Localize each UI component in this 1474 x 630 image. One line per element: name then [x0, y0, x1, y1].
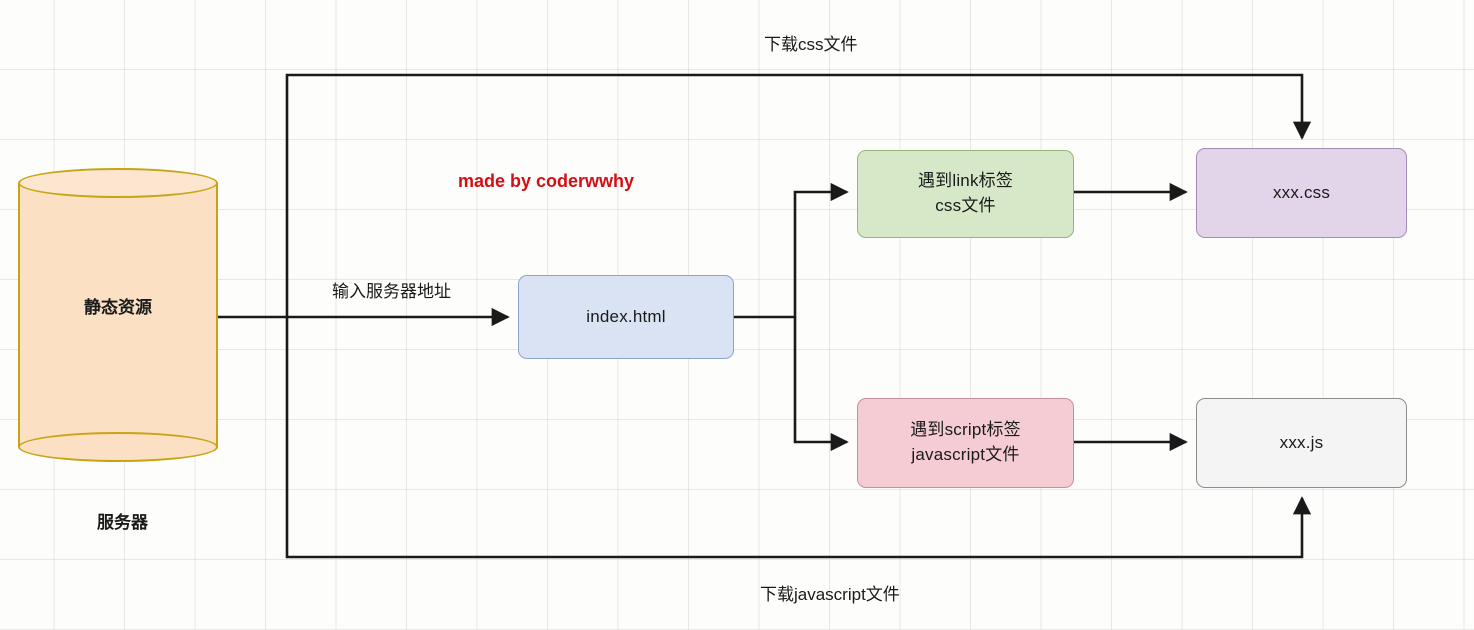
- cylinder-top-ellipse: [18, 168, 218, 198]
- link-tag-line-1: 遇到link标签: [918, 169, 1013, 194]
- edge-index-to-link: [734, 192, 847, 317]
- node-script-tag[interactable]: 遇到script标签 javascript文件: [857, 398, 1074, 488]
- css-file-label: xxx.css: [1273, 181, 1330, 206]
- edge-label-download-css: 下载css文件: [764, 30, 858, 55]
- index-html-label: index.html: [586, 305, 665, 330]
- edge-label-download-javascript: 下载javascript文件: [760, 580, 900, 605]
- script-tag-line-1: 遇到script标签: [910, 418, 1021, 443]
- watermark-text: made by coderwwhy: [458, 171, 634, 192]
- diagram-canvas: 静态资源 服务器 index.html 遇到link标签 css文件 遇到scr…: [0, 0, 1474, 630]
- edge-layer: [0, 0, 1474, 630]
- static-resources-label: 静态资源: [18, 293, 218, 318]
- node-link-tag[interactable]: 遇到link标签 css文件: [857, 150, 1074, 238]
- link-tag-line-2: css文件: [918, 194, 1013, 219]
- edge-label-server-address: 输入服务器地址: [332, 277, 451, 302]
- edge-download-js: [287, 317, 1302, 557]
- node-js-file[interactable]: xxx.js: [1196, 398, 1407, 488]
- server-caption: 服务器: [97, 508, 148, 533]
- node-static-resources[interactable]: 静态资源: [18, 168, 218, 462]
- node-index-html[interactable]: index.html: [518, 275, 734, 359]
- node-css-file[interactable]: xxx.css: [1196, 148, 1407, 238]
- edge-index-to-script: [795, 317, 847, 442]
- cylinder-bottom-ellipse: [18, 432, 218, 462]
- js-file-label: xxx.js: [1280, 431, 1324, 456]
- script-tag-line-2: javascript文件: [910, 443, 1021, 468]
